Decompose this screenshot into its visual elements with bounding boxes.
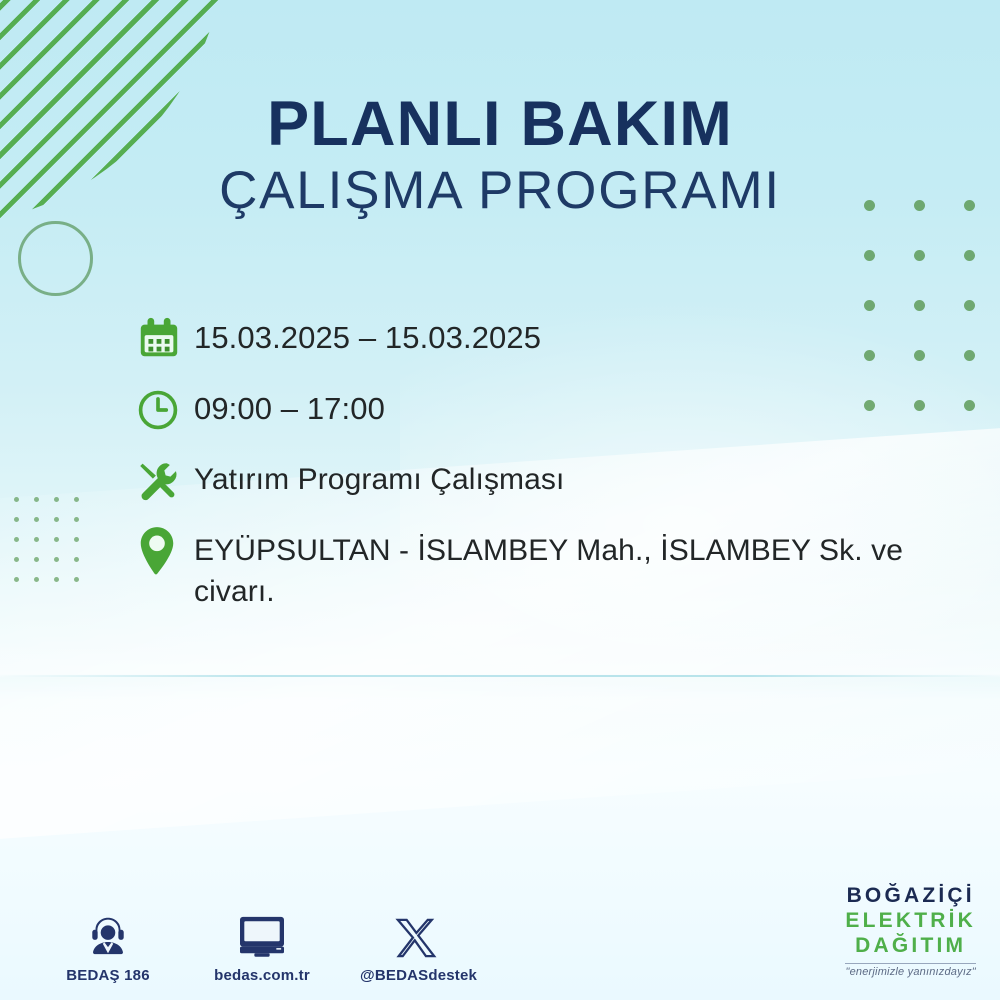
detail-row-time-value: 09:00 – 17:00 (194, 383, 936, 431)
circle-outline-decoration (18, 221, 93, 296)
dot-grid-left-decoration (14, 497, 94, 597)
tools-icon (136, 454, 194, 508)
page-title-secondary: ÇALIŞMA PROGRAMI (0, 160, 1000, 223)
planned-maintenance-poster: PLANLI BAKIM ÇALIŞMA PROGRAMI 15 (0, 0, 1000, 1000)
background-horizon-line (0, 675, 1000, 677)
map-pin-icon (136, 525, 194, 579)
calendar-icon (136, 312, 194, 366)
maintenance-details-list: 15.03.2025 – 15.03.2025 09:00 – 17:00 (136, 312, 936, 630)
footer-contact-bar: BEDAŞ 186 bedas.com.tr (52, 907, 472, 984)
detail-row-work-type: Yatırım Programı Çalışması (136, 454, 936, 508)
brand-logo: BOĞAZİÇİ ELEKTRİK DAĞITIM "enerjimizle y… (845, 885, 976, 978)
brand-logo-line3: DAĞITIM (845, 935, 976, 956)
footer-item-call-center[interactable]: BEDAŞ 186 (52, 907, 164, 984)
monitor-icon (206, 907, 318, 959)
brand-logo-line2: ELEKTRİK (845, 910, 976, 931)
clock-icon (136, 383, 194, 437)
detail-row-location: EYÜPSULTAN - İSLAMBEY Mah., İSLAMBEY Sk.… (136, 525, 936, 613)
footer-item-call-center-label: BEDAŞ 186 (52, 967, 164, 984)
footer-item-website[interactable]: bedas.com.tr (206, 907, 318, 984)
brand-logo-tagline: "enerjimizle yanınızdayız" (845, 967, 976, 978)
detail-row-location-value: EYÜPSULTAN - İSLAMBEY Mah., İSLAMBEY Sk.… (194, 525, 914, 613)
footer-item-website-label: bedas.com.tr (206, 967, 318, 984)
brand-logo-divider (845, 963, 976, 964)
support-agent-icon (52, 907, 164, 959)
footer-item-social[interactable]: @BEDASdestek (360, 907, 472, 984)
detail-row-date: 15.03.2025 – 15.03.2025 (136, 312, 936, 366)
detail-row-date-value: 15.03.2025 – 15.03.2025 (194, 312, 936, 360)
brand-logo-line1: BOĞAZİÇİ (845, 885, 976, 906)
detail-row-work-type-value: Yatırım Programı Çalışması (194, 454, 936, 500)
page-title: PLANLI BAKIM ÇALIŞMA PROGRAMI (0, 92, 1000, 223)
detail-row-time: 09:00 – 17:00 (136, 383, 936, 437)
page-title-primary: PLANLI BAKIM (0, 92, 1000, 156)
x-twitter-icon (360, 907, 472, 959)
footer-item-social-label: @BEDASdestek (360, 967, 472, 984)
